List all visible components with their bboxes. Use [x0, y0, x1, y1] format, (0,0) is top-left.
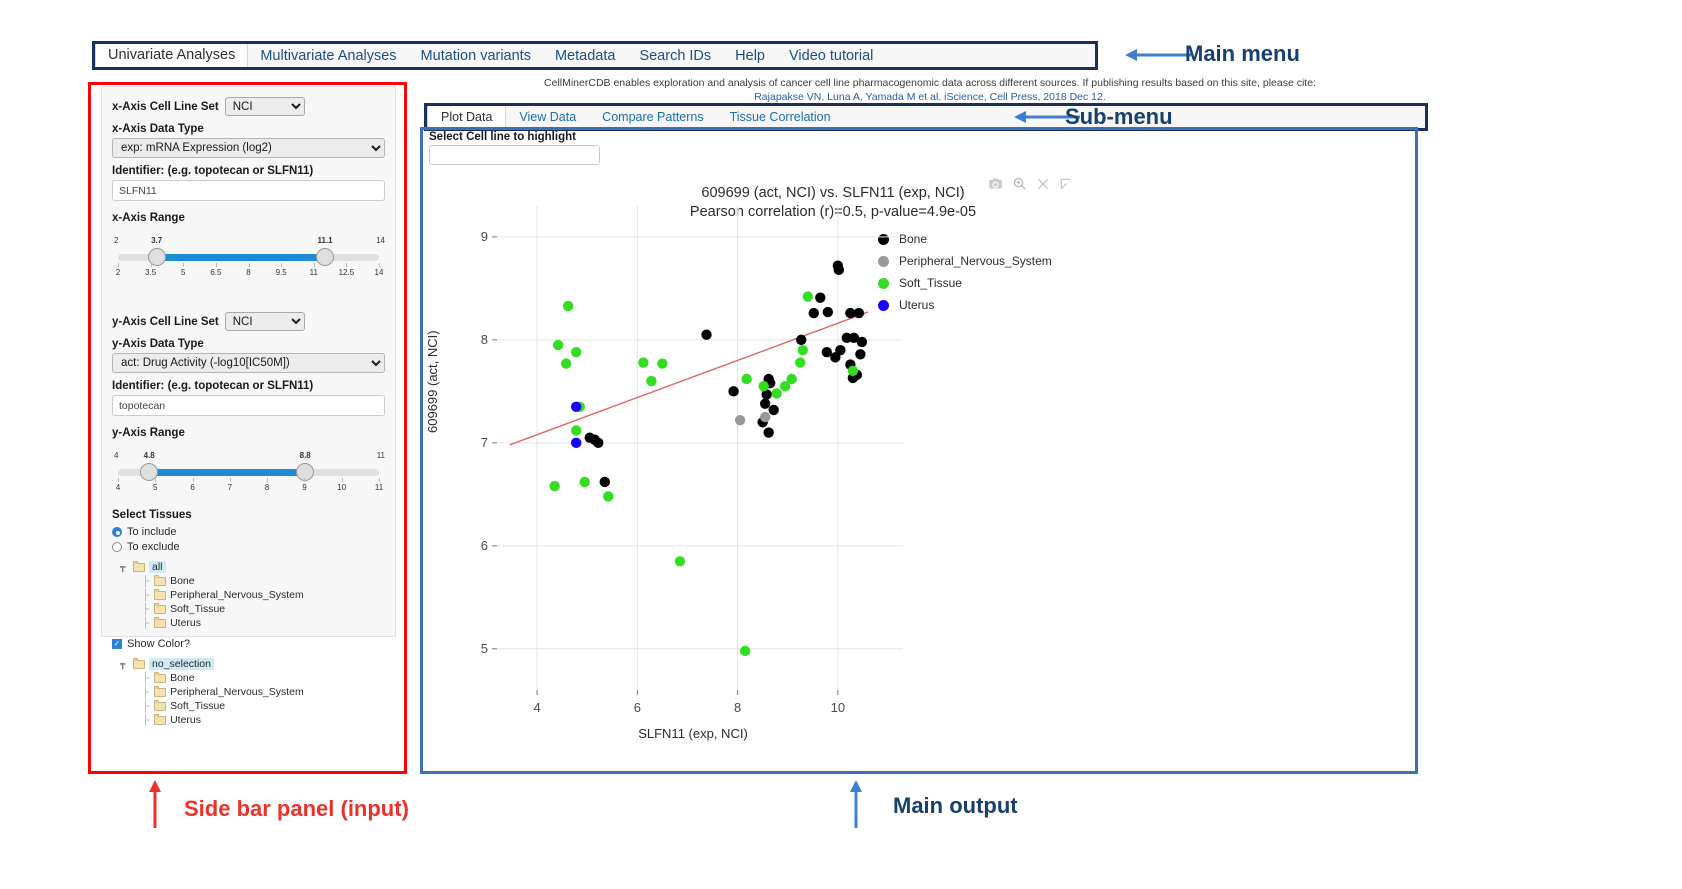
main-menu-item-3[interactable]: Metadata [543, 44, 627, 67]
y-range-high-value: 8.8 [300, 451, 311, 460]
slider-tick-label: 5 [153, 483, 157, 492]
color-node-item-0[interactable]: ├Bone [142, 672, 385, 684]
folder-icon [154, 618, 166, 628]
slider-tick-label: 7 [228, 483, 232, 492]
sub-menu-item-label: View Data [519, 110, 576, 124]
output-arrow-icon [845, 778, 867, 830]
data-point-soft_tissue[interactable] [549, 481, 559, 491]
tissue-node-item-3[interactable]: ├Uterus [142, 617, 385, 629]
tree-branch-icon: ├ [142, 590, 149, 601]
data-point-soft_tissue[interactable] [571, 425, 581, 435]
autoscale-icon[interactable] [1059, 177, 1073, 191]
slider-tick-label: 9.5 [276, 268, 287, 277]
tissue-include-label: To include [127, 526, 177, 538]
x-axis-cell-line-set-select[interactable]: NCI [225, 97, 305, 116]
sub-menu-item-1[interactable]: View Data [506, 106, 589, 128]
camera-icon[interactable] [988, 176, 1003, 191]
tree-branch-icon: ├ [142, 618, 149, 629]
tree-branch-icon: ├ [142, 715, 149, 726]
slider-tick-mark [314, 263, 315, 267]
slider-tick-mark [151, 263, 152, 267]
y-axis-title: 609699 (act, NCI) [425, 330, 440, 433]
show-color-label: Show Color? [127, 638, 190, 650]
show-color-row[interactable]: ✓ Show Color? [112, 638, 385, 650]
data-point-bone[interactable] [728, 386, 738, 396]
main-menu-item-label: Metadata [555, 48, 615, 64]
data-point-bone[interactable] [823, 307, 833, 317]
sub-menu-item-label: Plot Data [441, 110, 492, 124]
sub-menu-item-2[interactable]: Compare Patterns [589, 106, 716, 128]
sub-menu-item-label: Compare Patterns [602, 110, 703, 124]
folder-icon [154, 687, 166, 697]
data-point-soft_tissue[interactable] [561, 358, 571, 368]
data-point-soft_tissue[interactable] [740, 646, 750, 656]
data-point-bone[interactable] [857, 337, 867, 347]
data-point-bone[interactable] [815, 292, 825, 302]
data-point-bone[interactable] [763, 427, 773, 437]
data-point-bone[interactable] [796, 335, 806, 345]
folder-icon [154, 701, 166, 711]
data-point-soft_tissue[interactable] [603, 491, 613, 501]
select-tissues-title: Select Tissues [112, 509, 385, 521]
sub-menu-item-label: Tissue Correlation [730, 110, 831, 124]
y-axis-cell-line-set-row: y-Axis Cell Line Set NCI [112, 312, 385, 331]
y-range-min-end: 4 [114, 451, 118, 460]
y-axis-identifier-label: Identifier: (e.g. topotecan or SLFN11) [112, 380, 385, 392]
slider-tick-mark [216, 263, 217, 267]
main-menu-item-label: Multivariate Analyses [260, 48, 396, 64]
x-slider-ticks: 23.556.589.51112.514 [118, 263, 379, 279]
tissue-node-item-1[interactable]: ├Peripheral_Nervous_System [142, 589, 385, 601]
color-node-item-label: Soft_Tissue [170, 700, 225, 712]
tissue-node-item-label: Bone [170, 575, 195, 587]
slider-tick-label: 3.5 [145, 268, 156, 277]
slider-tick-label: 2 [116, 268, 120, 277]
tissue-node-item-2[interactable]: ├Soft_Tissue [142, 603, 385, 615]
tissue-tree[interactable]: ┳all├Bone├Peripheral_Nervous_System├Soft… [112, 561, 385, 629]
data-point-soft_tissue[interactable] [646, 376, 656, 386]
data-point-soft_tissue[interactable] [795, 357, 805, 367]
y-axis-cell-line-set-select[interactable]: NCI [225, 312, 305, 331]
data-point-peripheral_nervous_system[interactable] [760, 412, 770, 422]
tree-branch-icon: ├ [142, 687, 149, 698]
tree-expander-icon[interactable]: ┳ [120, 659, 129, 670]
tissue-include-radio-row[interactable]: To include [112, 526, 385, 538]
folder-icon [133, 659, 145, 669]
citation-line-1: CellMinerCDB enables exploration and ana… [430, 76, 1430, 90]
tissue-node-item-label: Peripheral_Nervous_System [170, 589, 304, 601]
data-point-bone[interactable] [701, 330, 711, 340]
slider-tick-label: 12.5 [339, 268, 355, 277]
data-point-soft_tissue[interactable] [803, 291, 813, 301]
y-slider-ticks: 4567891011 [118, 478, 379, 494]
main-menu-item-2[interactable]: Mutation variants [409, 44, 543, 67]
slider-tick-mark [183, 263, 184, 267]
color-tissue-tree[interactable]: ┳no_selection├Bone├Peripheral_Nervous_Sy… [112, 658, 385, 726]
slider-tick-mark [379, 478, 380, 482]
main-menu-item-label: Help [735, 48, 765, 64]
main-menu-item-6[interactable]: Video tutorial [777, 44, 885, 67]
x-slider-fill [155, 254, 323, 261]
data-point-bone[interactable] [834, 265, 844, 275]
data-point-soft_tissue[interactable] [675, 556, 685, 566]
show-color-checkbox-icon[interactable]: ✓ [112, 639, 122, 649]
x-axis-range-label: x-Axis Range [112, 212, 385, 224]
tissue-node-item-label: Soft_Tissue [170, 603, 225, 615]
data-point-bone[interactable] [760, 399, 770, 409]
x-range-max-end: 14 [376, 236, 385, 245]
tree-branch-icon: ├ [142, 576, 149, 587]
slider-tick-mark [155, 478, 156, 482]
tissue-node-root[interactable]: ┳all [120, 561, 385, 573]
tree-branch-icon: ├ [142, 604, 149, 615]
y-tick-label: 7 [481, 435, 488, 450]
x-axis-data-type-select[interactable]: exp: mRNA Expression (log2) [112, 138, 385, 158]
color-node-item-label: Peripheral_Nervous_System [170, 686, 304, 698]
data-point-soft_tissue[interactable] [787, 374, 797, 384]
highlight-cellline-input[interactable] [429, 145, 600, 165]
data-point-bone[interactable] [809, 308, 819, 318]
x-range-high-value: 11.1 [317, 236, 332, 245]
color-node-item-1[interactable]: ├Peripheral_Nervous_System [142, 686, 385, 698]
main-menu-item-0[interactable]: Univariate Analyses [95, 44, 248, 67]
tissue-node-root-label: all [149, 561, 166, 573]
tissue-exclude-radio-row[interactable]: To exclude [112, 541, 385, 553]
legend-label: Peripheral_Nervous_System [899, 254, 1052, 268]
folder-icon [154, 715, 166, 725]
slider-tick-label: 8 [246, 268, 250, 277]
folder-icon [154, 590, 166, 600]
data-point-uterus[interactable] [571, 402, 581, 412]
data-point-bone[interactable] [854, 308, 864, 318]
x-tick-label: 10 [831, 700, 845, 715]
y-axis-range-slider[interactable]: 4 11 4.8 8.8 4567891011 [112, 453, 385, 493]
slider-tick-label: 14 [375, 268, 384, 277]
slider-tick-label: 11 [375, 483, 383, 492]
color-node-root[interactable]: ┳no_selection [120, 658, 385, 670]
x-range-low-value: 3.7 [151, 236, 162, 245]
x-axis-cell-line-set-label: x-Axis Cell Line Set [112, 101, 219, 113]
data-point-bone[interactable] [830, 352, 840, 362]
slider-tick-mark [304, 478, 305, 482]
slider-tick-mark [230, 478, 231, 482]
data-point-soft_tissue[interactable] [553, 340, 563, 350]
tree-branch-icon: ├ [142, 701, 149, 712]
slider-tick-mark [118, 478, 119, 482]
color-node-item-label: Uterus [170, 714, 201, 726]
data-point-bone[interactable] [600, 477, 610, 487]
main-menu-arrow-icon [1123, 44, 1193, 66]
main-menu: Univariate AnalysesMultivariate Analyses… [92, 41, 1098, 70]
tissue-exclude-label: To exclude [127, 541, 180, 553]
x-axis-identifier-label: Identifier: (e.g. topotecan or SLFN11) [112, 165, 385, 177]
color-node-item-3[interactable]: ├Uterus [142, 714, 385, 726]
x-tick-label: 8 [734, 700, 741, 715]
citation-block: CellMinerCDB enables exploration and ana… [430, 76, 1430, 104]
data-point-soft_tissue[interactable] [657, 358, 667, 368]
slider-tick-label: 8 [265, 483, 269, 492]
data-point-soft_tissue[interactable] [758, 381, 768, 391]
y-slider-fill [148, 469, 304, 476]
slider-tick-label: 6 [190, 483, 194, 492]
data-point-soft_tissue[interactable] [580, 477, 590, 487]
data-point-bone[interactable] [593, 438, 603, 448]
color-node-item-2[interactable]: ├Soft_Tissue [142, 700, 385, 712]
slider-tick-label: 11 [310, 268, 318, 277]
tree-branch-icon: ├ [142, 673, 149, 684]
data-point-soft_tissue[interactable] [571, 347, 581, 357]
data-point-soft_tissue[interactable] [798, 345, 808, 355]
folder-icon [154, 673, 166, 683]
sidebar-panel: x-Axis Cell Line Set NCI x-Axis Data Typ… [101, 86, 396, 637]
main-menu-item-5[interactable]: Help [723, 44, 777, 67]
slider-tick-mark [118, 263, 119, 267]
slider-tick-label: 10 [337, 483, 346, 492]
zoom-in-icon[interactable] [1012, 176, 1027, 191]
slider-tick-label: 9 [302, 483, 306, 492]
data-point-soft_tissue[interactable] [771, 388, 781, 398]
plot-canvas: 5678946810 [445, 188, 915, 748]
data-point-soft_tissue[interactable] [638, 357, 648, 367]
y-tick-label: 8 [481, 332, 488, 347]
data-point-bone[interactable] [855, 349, 865, 359]
data-point-uterus[interactable] [571, 438, 581, 448]
slider-tick-mark [267, 478, 268, 482]
y-axis-data-type-select[interactable]: act: Drug Activity (-log10[IC50M]) [112, 353, 385, 373]
color-node-item-label: Bone [170, 672, 195, 684]
main-menu-item-label: Video tutorial [789, 48, 873, 64]
annotation-output: Main output [893, 793, 1018, 819]
citation-link[interactable]: Rajapakse VN, Luna A, Yamada M et al. iS… [754, 91, 1106, 103]
main-menu-item-label: Univariate Analyses [108, 47, 235, 63]
x-axis-cell-line-set-row: x-Axis Cell Line Set NCI [112, 97, 385, 116]
folder-icon [154, 576, 166, 586]
plotly-modebar[interactable] [988, 176, 1073, 191]
y-tick-label: 9 [481, 229, 488, 244]
x-tick-label: 6 [634, 700, 641, 715]
data-point-soft_tissue[interactable] [741, 374, 751, 384]
trend-line [510, 312, 868, 445]
tissue-node-item-label: Uterus [170, 617, 201, 629]
y-tick-label: 6 [481, 538, 488, 553]
tissue-node-item-0[interactable]: ├Bone [142, 575, 385, 587]
slider-tick-mark [342, 478, 343, 482]
x-axis-data-type-label: x-Axis Data Type [112, 123, 385, 135]
main-menu-item-1[interactable]: Multivariate Analyses [248, 44, 408, 67]
slider-tick-mark [249, 263, 250, 267]
folder-icon [154, 604, 166, 614]
y-range-low-value: 4.8 [144, 451, 155, 460]
sidebar-arrow-icon [144, 778, 166, 830]
x-axis-identifier-input[interactable] [112, 180, 385, 201]
annotation-main-menu: Main menu [1185, 41, 1300, 67]
slider-tick-label: 4 [116, 483, 120, 492]
close-icon[interactable] [1036, 177, 1050, 191]
radio-include-icon[interactable] [112, 527, 122, 537]
y-axis-identifier-input[interactable] [112, 395, 385, 416]
main-menu-item-4[interactable]: Search IDs [627, 44, 723, 67]
data-point-soft_tissue[interactable] [563, 301, 573, 311]
y-tick-label: 5 [481, 641, 488, 656]
y-axis-cell-line-set-label: y-Axis Cell Line Set [112, 316, 219, 328]
slider-tick-label: 6.5 [210, 268, 221, 277]
x-tick-label: 4 [533, 700, 540, 715]
annotation-sub-menu: Sub-menu [1065, 104, 1173, 130]
main-menu-item-label: Mutation variants [421, 48, 531, 64]
x-range-min-end: 2 [114, 236, 118, 245]
slider-tick-mark [346, 263, 347, 267]
slider-tick-mark [193, 478, 194, 482]
data-point-peripheral_nervous_system[interactable] [735, 415, 745, 425]
annotation-sidebar: Side bar panel (input) [184, 796, 409, 822]
data-point-soft_tissue[interactable] [848, 366, 858, 376]
slider-tick-mark [379, 263, 380, 267]
main-menu-item-label: Search IDs [639, 48, 711, 64]
slider-tick-mark [281, 263, 282, 267]
highlight-cellline-label: Select Cell line to highlight [429, 131, 576, 143]
radio-exclude-icon[interactable] [112, 542, 122, 552]
slider-tick-label: 5 [181, 268, 185, 277]
y-axis-data-type-label: y-Axis Data Type [112, 338, 385, 350]
app-window: Univariate AnalysesMultivariate Analyses… [0, 0, 1682, 889]
sub-menu-item-0[interactable]: Plot Data [427, 106, 506, 128]
data-point-bone[interactable] [768, 405, 778, 415]
scatter-plot: 609699 (act, NCI) vs. SLFN11 (exp, NCI) … [423, 168, 1415, 770]
y-axis-range-label: y-Axis Range [112, 427, 385, 439]
sub-menu-item-3[interactable]: Tissue Correlation [717, 106, 844, 128]
y-range-max-end: 11 [377, 451, 385, 460]
tree-expander-icon[interactable]: ┳ [120, 562, 129, 573]
x-axis-range-slider[interactable]: 2 14 3.7 11.1 23.556.589.51112.514 [112, 238, 385, 278]
color-node-root-label: no_selection [149, 658, 214, 670]
folder-icon [133, 562, 145, 572]
